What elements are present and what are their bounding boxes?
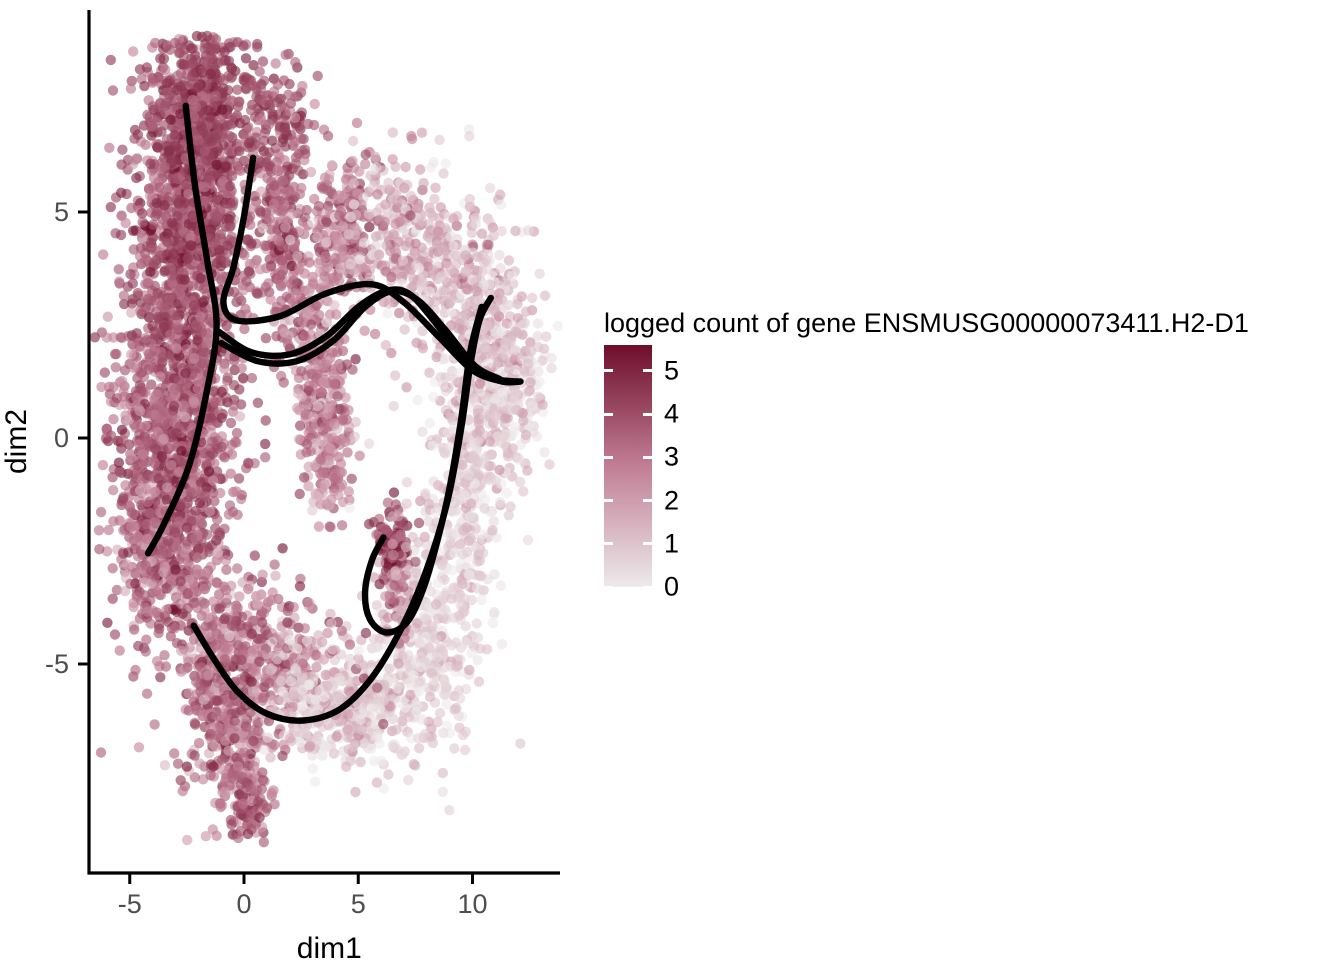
scatter-point (520, 318, 530, 328)
scatter-point (328, 347, 338, 357)
scatter-point (380, 199, 390, 209)
scatter-point (428, 157, 438, 167)
scatter-point (124, 501, 134, 511)
scatter-point (169, 401, 179, 411)
scatter-point (506, 336, 516, 346)
scatter-point (417, 128, 427, 138)
scatter-point (222, 204, 232, 214)
scatter-point (110, 629, 120, 639)
scatter-point (174, 144, 184, 154)
scatter-point (473, 437, 483, 447)
scatter-point (98, 249, 108, 259)
scatter-point (515, 454, 525, 464)
scatter-point (130, 569, 140, 579)
scatter-point (182, 181, 192, 191)
scatter-point (282, 187, 292, 197)
scatter-point (325, 521, 335, 531)
scatter-point (277, 543, 287, 553)
scatter-point (224, 131, 234, 141)
scatter-point (171, 289, 181, 299)
scatter-point (394, 217, 404, 227)
scatter-point (125, 269, 135, 279)
scatter-point (335, 435, 345, 445)
scatter-point (240, 115, 250, 125)
scatter-point (126, 522, 136, 532)
scatter-point (399, 183, 409, 193)
scatter-point (219, 363, 229, 373)
scatter-point (503, 300, 513, 310)
scatter-point (119, 391, 129, 401)
scatter-point (352, 118, 362, 128)
scatter-point (258, 223, 268, 233)
scatter-point (166, 460, 176, 470)
scatter-point (347, 474, 357, 484)
scatter-point (126, 349, 136, 359)
scatter-point (145, 159, 155, 169)
scatter-point (202, 31, 212, 41)
scatter-point (507, 271, 517, 281)
scatter-point (271, 58, 281, 68)
scatter-point (438, 168, 448, 178)
scatter-point (281, 50, 291, 60)
scatter-point (142, 436, 152, 446)
scatter-point (159, 434, 169, 444)
scatter-point (189, 353, 199, 363)
scatter-point (448, 213, 458, 223)
scatter-point (483, 240, 493, 250)
scatter-point (546, 353, 556, 363)
scatter-point (108, 485, 118, 495)
scatter-point (129, 363, 139, 373)
scatter-point (167, 218, 177, 228)
scatter-point (225, 500, 235, 510)
scatter-point (485, 183, 495, 193)
scatter-point (320, 422, 330, 432)
scatter-point (349, 199, 359, 209)
scatter-point (205, 69, 215, 79)
scatter-point (401, 162, 411, 172)
scatter-point (331, 309, 341, 319)
scatter-point (456, 558, 466, 568)
scatter-point (96, 507, 106, 517)
scatter-point (424, 202, 434, 212)
scatter-point (416, 216, 426, 226)
scatter-point (162, 583, 172, 593)
scatter-point (425, 418, 435, 428)
scatter-point (98, 460, 108, 470)
scatter-point (467, 228, 477, 238)
scatter-point (220, 162, 230, 172)
scatter-point (168, 173, 178, 183)
scatter-point (255, 264, 265, 274)
scatter-point (144, 183, 154, 193)
scatter-point (148, 76, 158, 86)
scatter-point (494, 465, 504, 475)
scatter-point (483, 471, 493, 481)
scatter-point (153, 473, 163, 483)
scatter-point (231, 157, 241, 167)
scatter-point (427, 441, 437, 451)
scatter-point (538, 400, 548, 410)
scatter-point (304, 307, 314, 317)
scatter-point (143, 497, 153, 507)
scatter-point (285, 235, 295, 245)
scatter-point (398, 256, 408, 266)
scatter-point (162, 78, 172, 88)
scatter-point (123, 547, 133, 557)
scatter-point (445, 231, 455, 241)
scatter-point (487, 525, 497, 535)
scatter-point (352, 189, 362, 199)
scatter-point (314, 201, 324, 211)
scatter-point (521, 306, 531, 316)
scatter-point (446, 307, 456, 317)
scatter-point (290, 113, 300, 123)
scatter-point (171, 542, 181, 552)
scatter-point (304, 257, 314, 267)
scatter-point (234, 96, 244, 106)
scatter-point (424, 228, 434, 238)
scatter-point (300, 144, 310, 154)
scatter-point (255, 66, 265, 76)
scatter-point (160, 64, 170, 74)
scatter-point (140, 333, 150, 343)
scatter-point (123, 282, 133, 292)
scatter-point (339, 251, 349, 261)
scatter-point (344, 229, 354, 239)
scatter-point (292, 403, 302, 413)
scatter-point (230, 437, 240, 447)
scatter-point (250, 550, 260, 560)
scatter-point (454, 323, 464, 333)
scatter-point (106, 431, 116, 441)
scatter-point (290, 57, 300, 67)
scatter-point (523, 359, 533, 369)
scatter-point (184, 560, 194, 570)
scatter-point (269, 199, 279, 209)
scatter-point (523, 535, 533, 545)
scatter-point (450, 273, 460, 283)
scatter-point (344, 503, 354, 513)
scatter-point (508, 443, 518, 453)
scatter-point (436, 560, 446, 570)
scatter-point (160, 162, 170, 172)
scatter-point (383, 178, 393, 188)
scatter-point (505, 502, 515, 512)
scatter-point (388, 401, 398, 411)
scatter-point (501, 351, 511, 361)
scatter-point (502, 488, 512, 498)
scatter-point (433, 226, 443, 236)
scatter-point (334, 210, 344, 220)
scatter-point (207, 58, 217, 68)
scatter-point (474, 418, 484, 428)
scatter-point (138, 520, 148, 530)
scatter-point (497, 438, 507, 448)
scatter-point (234, 384, 244, 394)
scatter-point (518, 416, 528, 426)
scatter-point (475, 379, 485, 389)
scatter-point (504, 510, 514, 520)
scatter-point (128, 46, 138, 56)
scatter-point (430, 507, 440, 517)
scatter-point (155, 53, 165, 63)
scatter-point (102, 332, 112, 342)
scatter-point (102, 618, 112, 628)
scatter-point (489, 345, 499, 355)
scatter-point (108, 414, 118, 424)
scatter-point (364, 222, 374, 232)
scatter-point (355, 254, 365, 264)
scatter-point (164, 146, 174, 156)
scatter-point (114, 458, 124, 468)
scatter-point (316, 387, 326, 397)
scatter-point (153, 312, 163, 322)
scatter-point (252, 42, 262, 52)
scatter-point (449, 743, 459, 753)
scatter-point (229, 287, 239, 297)
scatter-point (179, 400, 189, 410)
scatter-point (205, 506, 215, 516)
scatter-point (129, 466, 139, 476)
scatter-point (156, 127, 166, 137)
scatter-point (172, 428, 182, 438)
scatter-point (321, 237, 331, 247)
scatter-point (196, 327, 206, 337)
scatter-point (191, 102, 201, 112)
scatter-point (132, 592, 142, 602)
scatter-point (142, 689, 152, 699)
scatter-point (171, 343, 181, 353)
scatter-point (117, 376, 127, 386)
scatter-point (118, 435, 128, 445)
scatter-point (144, 508, 154, 518)
scatter-point (104, 143, 114, 153)
scatter-point (155, 250, 165, 260)
scatter-point (380, 217, 390, 227)
scatter-point (227, 171, 237, 181)
scatter-point (291, 152, 301, 162)
scatter-point (247, 80, 257, 90)
scatter-point (390, 370, 400, 380)
scatter-point (180, 296, 190, 306)
scatter-point (129, 155, 139, 165)
scatter-point (388, 127, 398, 137)
scatter-point (337, 370, 347, 380)
scatter-point (137, 217, 147, 227)
scatter-point (245, 269, 255, 279)
scatter-point (443, 428, 453, 438)
scatter-point (106, 55, 116, 65)
scatter-point (286, 98, 296, 108)
scatter-point (494, 250, 504, 260)
scatter-point (216, 442, 226, 452)
scatter-point (120, 365, 130, 375)
scatter-point (128, 226, 138, 236)
scatter-point (335, 263, 345, 273)
scatter-point (243, 234, 253, 244)
scatter-point (361, 149, 371, 159)
scatter-point (153, 401, 163, 411)
scatter-point (186, 487, 196, 497)
scatter-point (350, 431, 360, 441)
scatter-point (472, 252, 482, 262)
scatter-point (176, 446, 186, 456)
scatter-point (510, 226, 520, 236)
scatter-point (96, 747, 106, 757)
scatter-point (152, 288, 162, 298)
scatter-point (415, 164, 425, 174)
scatter-plot-canvas: -5051050-5dim1dim2 (0, 0, 1344, 960)
scatter-point (143, 294, 153, 304)
scatter-point (195, 273, 205, 283)
scatter-point (276, 241, 286, 251)
scatter-point (478, 548, 488, 558)
scatter-point (329, 418, 339, 428)
scatter-point (262, 157, 272, 167)
scatter-point (348, 178, 358, 188)
scatter-point (142, 62, 152, 72)
scatter-point (299, 331, 309, 341)
scatter-point (238, 373, 248, 383)
scatter-point (224, 146, 234, 156)
scatter-point (155, 672, 165, 682)
scatter-point (495, 497, 505, 507)
scatter-point (504, 364, 514, 374)
scatter-point (115, 645, 125, 655)
scatter-point (108, 382, 118, 392)
scatter-point (255, 168, 265, 178)
scatter-point (304, 287, 314, 297)
scatter-point (525, 377, 535, 387)
scatter-point (192, 552, 202, 562)
scatter-point (299, 472, 309, 482)
scatter-point (540, 291, 550, 301)
scatter-point (466, 498, 476, 508)
scatter-point (94, 544, 104, 554)
scatter-point (189, 396, 199, 406)
scatter-point (267, 136, 277, 146)
scatter-point (489, 569, 499, 579)
scatter-point (386, 272, 396, 282)
scatter-point (242, 309, 252, 319)
scatter-point (239, 324, 249, 334)
scatter-point (444, 805, 454, 815)
scatter-point (116, 332, 126, 342)
scatter-point (407, 134, 417, 144)
scatter-point (144, 349, 154, 359)
scatter-point (521, 430, 531, 440)
scatter-point (446, 297, 456, 307)
scatter-point (312, 232, 322, 242)
scatter-point (374, 250, 384, 260)
scatter-point (496, 326, 506, 336)
scatter-point (405, 210, 415, 220)
scatter-point (312, 401, 322, 411)
scatter-point (193, 82, 203, 92)
scatter-point (490, 411, 500, 421)
scatter-point (276, 94, 286, 104)
scatter-point (265, 294, 275, 304)
scatter-point (125, 579, 135, 589)
scatter-point (302, 439, 312, 449)
scatter-point (199, 491, 209, 501)
scatter-point (115, 467, 125, 477)
scatter-point (170, 130, 180, 140)
scatter-point (279, 75, 289, 85)
scatter-point (278, 176, 288, 186)
scatter-point (160, 100, 170, 110)
scatter-point (440, 353, 450, 363)
scatter-point (96, 382, 106, 392)
scatter-point (223, 372, 233, 382)
scatter-point (546, 363, 556, 373)
scatter-point (119, 291, 129, 301)
scatter-point (256, 207, 266, 217)
scatter-point (103, 312, 113, 322)
scatter-point (239, 250, 249, 260)
scatter-point (417, 243, 427, 253)
scatter-point (149, 719, 159, 729)
scatter-point (428, 265, 438, 275)
scatter-point (488, 231, 498, 241)
scatter-point (511, 326, 521, 336)
scatter-point (297, 317, 307, 327)
scatter-point (510, 422, 520, 432)
scatter-point (461, 266, 471, 276)
scatter-point (402, 477, 412, 487)
scatter-point (317, 436, 327, 446)
scatter-point (116, 188, 126, 198)
scatter-point (150, 38, 160, 48)
scatter-point (146, 410, 156, 420)
scatter-point (226, 418, 236, 428)
scatter-point (323, 185, 333, 195)
scatter-point (223, 241, 233, 251)
scatter-point (496, 200, 506, 210)
scatter-point (180, 368, 190, 378)
scatter-point (237, 363, 247, 373)
scatter-point (482, 320, 492, 330)
scatter-point (323, 131, 333, 141)
scatter-point (186, 43, 196, 53)
scatter-point (527, 401, 537, 411)
scatter-point (441, 158, 451, 168)
scatter-point (371, 231, 381, 241)
scatter-point (489, 516, 499, 526)
scatter-point (209, 496, 219, 506)
scatter-point (333, 490, 343, 500)
scatter-point (420, 488, 430, 498)
scatter-point (517, 291, 527, 301)
scatter-point (454, 495, 464, 505)
scatter-point (370, 329, 380, 339)
scatter-point (338, 346, 348, 356)
scatter-point (372, 189, 382, 199)
scatter-point (241, 128, 251, 138)
scatter-point (279, 125, 289, 135)
scatter-point (180, 198, 190, 208)
scatter-point (273, 164, 283, 174)
scatter-point (279, 327, 289, 337)
scatter-point (465, 202, 475, 212)
scatter-point (261, 415, 271, 425)
scatter-point (293, 388, 303, 398)
scatter-point (132, 393, 142, 403)
scatter-point (523, 387, 533, 397)
scatter-point (368, 165, 378, 175)
scatter-point (144, 312, 154, 322)
